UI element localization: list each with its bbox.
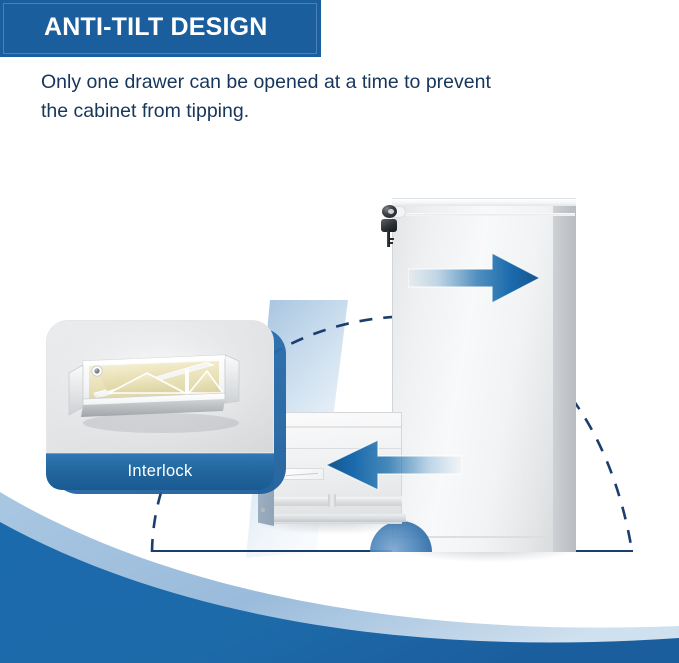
key-tooth: [390, 242, 393, 244]
lock-icon: [380, 205, 402, 249]
page-title: ANTI-TILT DESIGN: [44, 13, 268, 42]
page-subtitle: Only one drawer can be opened at a time …: [41, 68, 561, 126]
decorative-swoosh: [0, 470, 679, 663]
infographic-canvas: ANTI-TILT DESIGN Only one drawer can be …: [0, 0, 679, 663]
push-closed-arrow-icon: [408, 250, 540, 306]
lock-cylinder: [382, 205, 397, 218]
cabinet-top-seam: [393, 213, 575, 216]
cabinet-top-panel: [392, 198, 576, 206]
title-banner: ANTI-TILT DESIGN: [0, 0, 321, 57]
interlock-part-illustration: [47, 321, 274, 453]
interlock-photo: [46, 320, 274, 453]
lock-keyhole: [388, 209, 394, 214]
key-tooth: [390, 238, 394, 240]
interlock-callout: Interlock: [46, 320, 280, 490]
drawer-edge-line: [274, 426, 401, 428]
